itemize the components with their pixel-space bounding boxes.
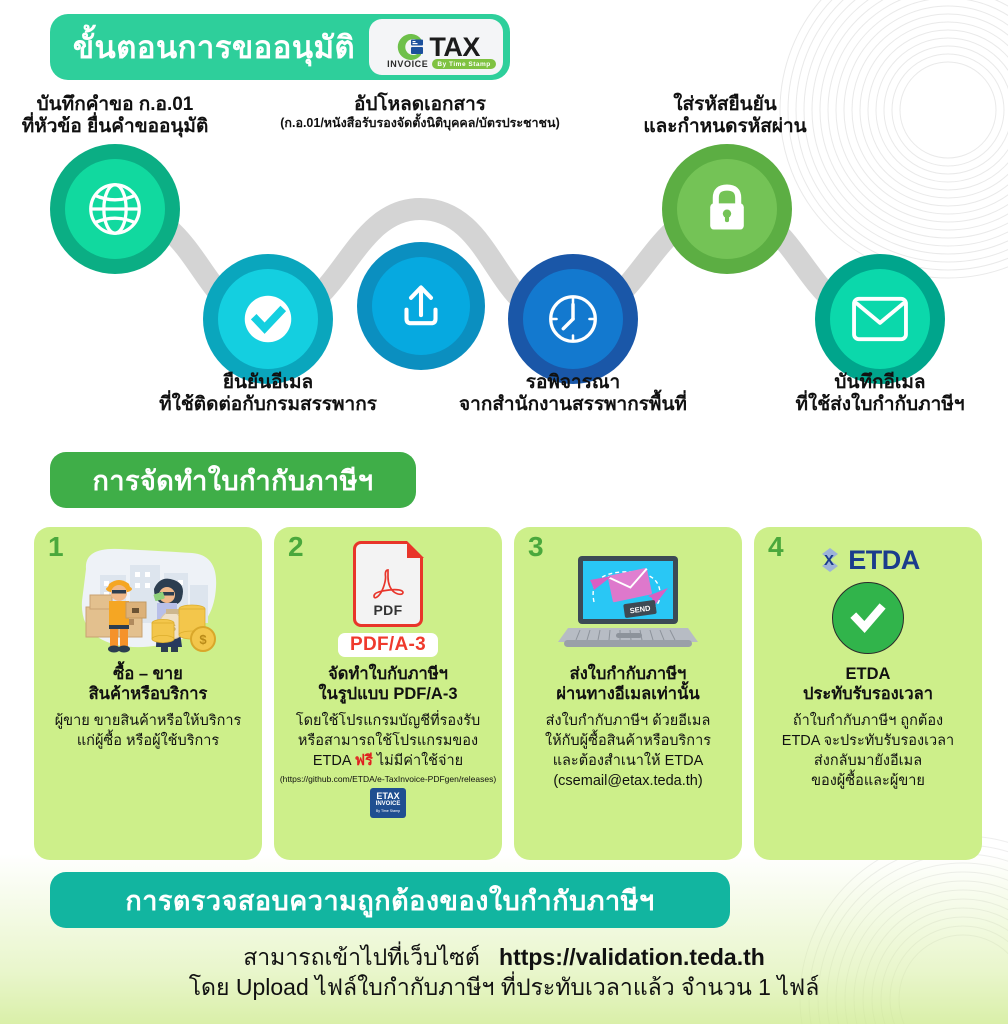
card-3-body: ส่งใบกำกับภาษีฯ ด้วยอีเมล ให้กับผู้ซื้อส…	[545, 711, 711, 791]
card-2-body-line2: หรือสามารถใช้โปรแกรมของ	[298, 733, 478, 749]
etax-mini-line1: ETAX	[376, 792, 399, 801]
step-6-line2: ที่ใช้ส่งใบกำกับภาษีฯ	[735, 394, 1008, 416]
pdf-document-icon: PDF PDF/A-3	[284, 537, 492, 661]
card-4-body-line2: ETDA จะประทับรับรองเวลา	[782, 733, 954, 749]
svg-text:$: $	[199, 632, 207, 647]
pdf-a3-badge: PDF/A-3	[338, 633, 438, 657]
step-label-3: อัปโหลดเอกสาร (ก.อ.01/หนังสือรับรองจัดตั…	[190, 94, 650, 131]
etax-mini-line3: By Time Stamp	[376, 809, 400, 813]
step-4-line2: จากสำนักงานสรรพากรพื้นที่	[423, 394, 723, 416]
card-1-body-line1: ผู้ขาย ขายสินค้าหรือให้บริการ	[55, 713, 242, 729]
card-1-title-line1: ซื้อ – ขาย	[113, 665, 183, 683]
card-4-body-line1: ถ้าใบกำกับภาษีฯ ถูกต้อง	[793, 713, 943, 729]
step-node-1[interactable]	[50, 144, 180, 274]
buy-sell-illustration: $ $	[44, 537, 252, 661]
card-3-body-line1: ส่งใบกำกับภาษีฯ ด้วยอีเมล	[546, 713, 711, 729]
step-node-2[interactable]	[203, 254, 333, 384]
check-icon	[846, 596, 890, 640]
invoice-steps-card-list: 1	[34, 527, 982, 860]
card-2-url[interactable]: (https://github.com/ETDA/e-TaxInvoice-PD…	[280, 774, 496, 784]
validation-header-title: การตรวจสอบความถูกต้องของใบกำกับภาษีฯ	[125, 879, 654, 922]
create-invoice-section-header: การจัดทำใบกำกับภาษีฯ	[50, 452, 416, 508]
card-3-body-line3: และต้องสำเนาให้ ETDA	[553, 753, 704, 769]
card-1-title: ซื้อ – ขาย สินค้าหรือบริการ	[89, 665, 208, 705]
step-node-3[interactable]	[357, 242, 485, 370]
approval-flow-diagram: บันทึกคำขอ ก.อ.01 ที่หัวข้อ ยื่นคำขออนุม…	[0, 84, 1008, 434]
acrobat-glyph-icon	[367, 566, 409, 604]
invoice-step-card-2[interactable]: 2 PDF PDF/A-3 จัดทำใบกับภาษีฯ ในรูปแบบ P…	[274, 527, 502, 860]
check-circle-icon	[237, 288, 299, 350]
etax-invoice-badge-small: ETAX INVOICE By Time Stamp	[370, 788, 406, 818]
etax-logo-timestamp-badge: By Time Stamp	[432, 59, 495, 69]
card-2-title: จัดทำใบกับภาษีฯ ในรูปแบบ PDF/A-3	[318, 665, 457, 705]
step-4-line1: รอพิจารณา	[423, 372, 723, 394]
card-3-title-line2: ผ่านทางอีเมลเท่านั้น	[556, 685, 699, 703]
step-node-4[interactable]	[508, 254, 638, 384]
card-2-body: โดยใช้โปรแกรมบัญชีที่รองรับ หรือสามารถใช…	[296, 711, 480, 771]
validation-line1-prefix: สามารถเข้าไปที่เว็บไซต์	[243, 944, 480, 970]
card-3-body-line2: ให้กับผู้ซื้อสินค้าหรือบริการ	[545, 733, 711, 749]
pdf-label-text: PDF	[374, 602, 403, 618]
card-4-body-line3: ส่งกลับมายังอีเมล	[814, 753, 922, 769]
lock-icon	[699, 179, 755, 239]
step-label-4: รอพิจารณา จากสำนักงานสรรพากรพื้นที่	[423, 372, 723, 417]
globe-icon	[84, 178, 146, 240]
etda-diamond-icon: X	[816, 546, 844, 574]
step-5-line2: และกำหนดรหัสผ่าน	[610, 116, 840, 138]
card-2-number: 2	[288, 533, 304, 561]
etda-logo: X ETDA	[816, 545, 920, 576]
card-2-body-etda: ETDA	[313, 753, 351, 769]
card-1-body: ผู้ขาย ขายสินค้าหรือให้บริการ แก่ผู้ซื้อ…	[55, 711, 242, 751]
validation-section-header: การตรวจสอบความถูกต้องของใบกำกับภาษีฯ	[50, 872, 730, 928]
invoice-step-card-1[interactable]: 1	[34, 527, 262, 860]
card-3-body-email: (csemail@etax.teda.th)	[553, 773, 702, 789]
laptop-send-email-illustration: SEND	[524, 537, 732, 661]
create-invoice-header-title: การจัดทำใบกำกับภาษีฯ	[92, 459, 373, 502]
etda-logo-check: X ETDA	[764, 537, 972, 661]
card-4-title-line2: ประทับรับรองเวลา	[803, 685, 933, 703]
approval-header-title: ขั้นตอนการขออนุมัติ	[73, 32, 355, 63]
upload-icon	[392, 277, 450, 335]
etax-logo-subline: INVOICE By Time Stamp	[387, 59, 496, 69]
card-2-title-line1: จัดทำใบกับภาษีฯ	[328, 665, 448, 683]
card-4-title: ETDA ประทับรับรองเวลา	[803, 665, 933, 705]
step-label-2: ยืนยันอีเมล ที่ใช้ติดต่อกับกรมสรรพากร	[118, 372, 418, 417]
pdf-file-icon: PDF	[353, 541, 423, 627]
etax-logo-invoice-text: INVOICE	[387, 59, 428, 69]
card-3-title: ส่งใบกำกับภาษีฯ ผ่านทางอีเมลเท่านั้น	[556, 665, 699, 705]
step-5-line1: ใส่รหัสยืนยัน	[610, 94, 840, 116]
validation-footer: สามารถเข้าไปที่เว็บไซต์ https://validati…	[0, 942, 1008, 1003]
step-node-6[interactable]	[815, 254, 945, 384]
step-node-5[interactable]	[662, 144, 792, 274]
etax-invoice-logo: TAX INVOICE By Time Stamp	[369, 19, 503, 75]
validation-line-1: สามารถเข้าไปที่เว็บไซต์ https://validati…	[0, 942, 1008, 972]
card-1-title-line2: สินค้าหรือบริการ	[89, 685, 208, 703]
validation-line-2: โดย Upload ไฟล์ใบกำกับภาษีฯ ที่ประทับเวล…	[0, 972, 1008, 1002]
card-4-number: 4	[768, 533, 784, 561]
step-label-6: บันทึกอีเมล ที่ใช้ส่งใบกำกับภาษีฯ	[735, 372, 1008, 417]
card-1-body-line2: แก่ผู้ซื้อ หรือผู้ใช้บริการ	[77, 733, 219, 749]
svg-text:X: X	[824, 552, 834, 569]
invoice-step-card-3[interactable]: 3	[514, 527, 742, 860]
step-3-line1: อัปโหลดเอกสาร	[190, 94, 650, 116]
step-label-5: ใส่รหัสยืนยัน และกำหนดรหัสผ่าน	[610, 94, 840, 139]
green-check-badge	[832, 582, 904, 654]
card-2-title-line2: ในรูปแบบ PDF/A-3	[318, 685, 457, 703]
envelope-icon	[849, 294, 911, 344]
card-2-body-line1: โดยใช้โปรแกรมบัญชีที่รองรับ	[296, 713, 480, 729]
card-3-title-line1: ส่งใบกำกับภาษีฯ	[570, 665, 687, 683]
card-4-body: ถ้าใบกำกับภาษีฯ ถูกต้อง ETDA จะประทับรับ…	[782, 711, 954, 791]
etda-logo-word: ETDA	[848, 545, 920, 576]
etax-logo-word: TAX	[429, 35, 480, 59]
step-3-note: (ก.อ.01/หนังสือรับรองจัดตั้งนิติบุคคล/บั…	[190, 116, 650, 131]
approval-section-header: ขั้นตอนการขออนุมัติ TAX INVOICE By Time …	[50, 14, 510, 80]
step-2-line2: ที่ใช้ติดต่อกับกรมสรรพากร	[118, 394, 418, 416]
card-2-body-nocost: ไม่มีค่าใช้จ่าย	[377, 753, 463, 769]
card-4-title-line1: ETDA	[846, 665, 891, 683]
card-4-body-line4: ของผู้ซื้อและผู้ขาย	[811, 773, 925, 789]
invoice-step-card-4[interactable]: 4 X ETDA ETDA ประทับรับรองเวลา	[754, 527, 982, 860]
etax-mini-line2: INVOICE	[376, 801, 401, 808]
step-2-line1: ยืนยันอีเมล	[118, 372, 418, 394]
clock-icon	[542, 288, 604, 350]
card-3-number: 3	[528, 533, 544, 561]
card-1-number: 1	[48, 533, 64, 561]
validation-url[interactable]: https://validation.teda.th	[499, 944, 765, 970]
step-6-line1: บันทึกอีเมล	[735, 372, 1008, 394]
card-2-body-free: ฟรี	[355, 753, 373, 769]
